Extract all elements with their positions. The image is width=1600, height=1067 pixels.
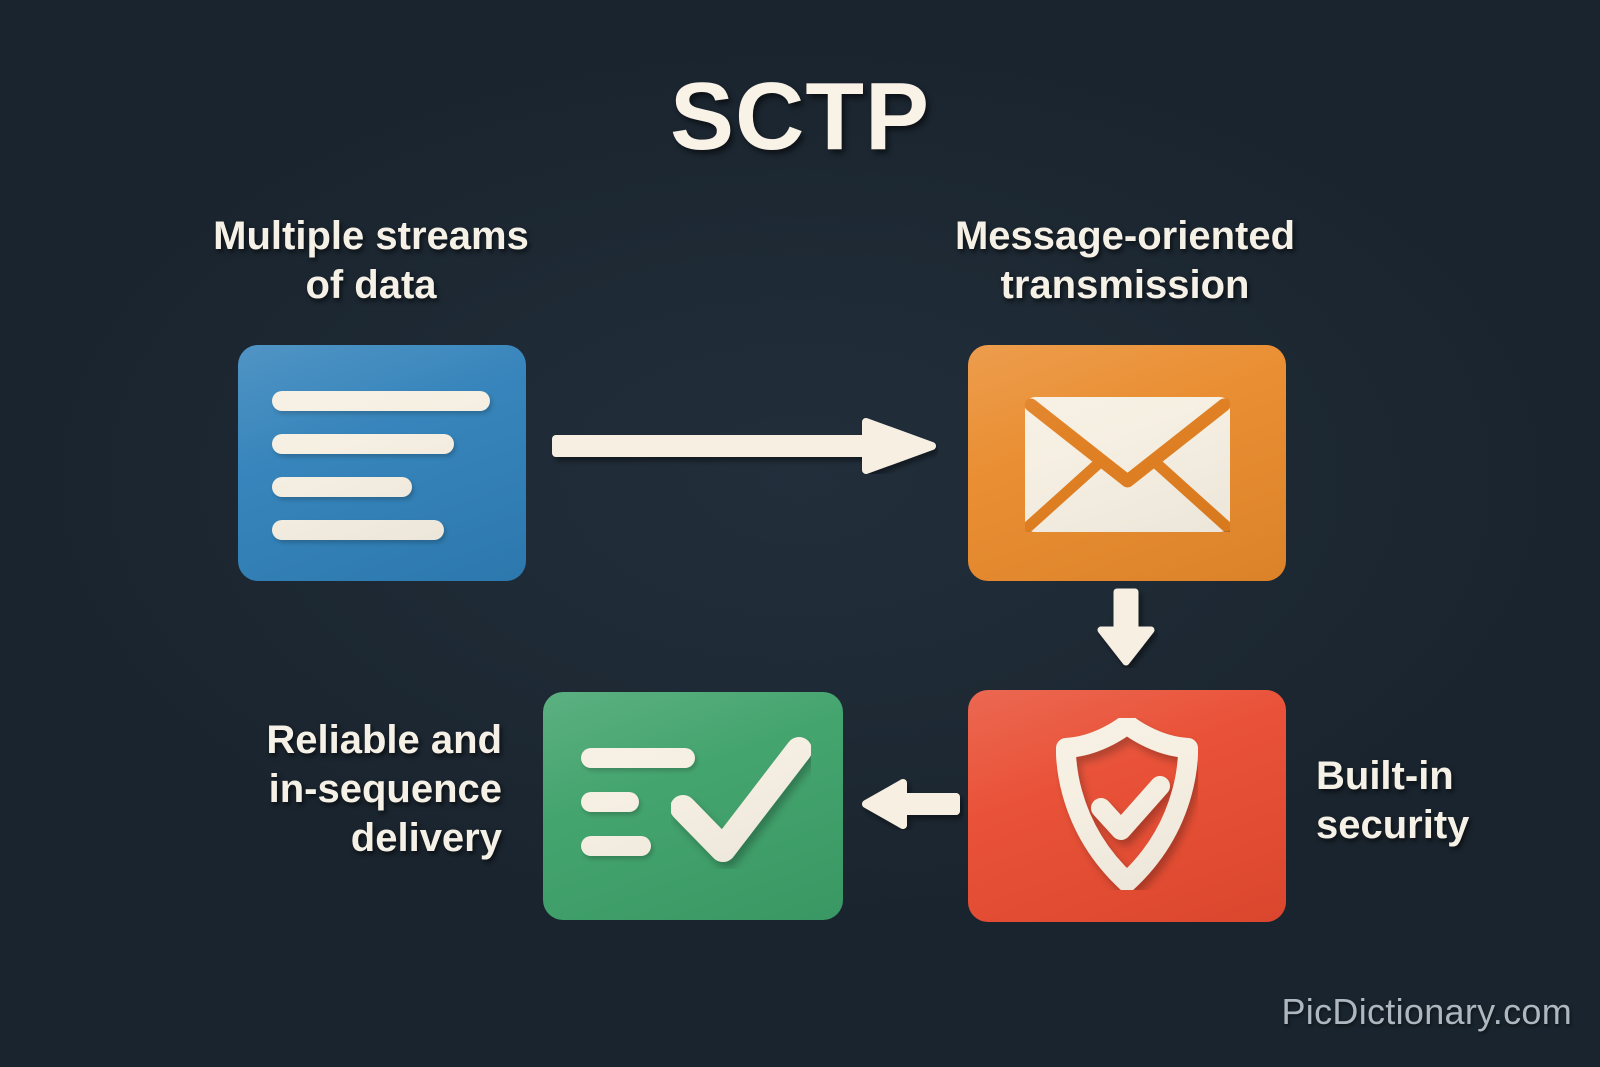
label-reliable-delivery: Reliable and in-sequence delivery: [150, 716, 502, 862]
node-multiple-streams[interactable]: [238, 345, 526, 581]
card-face: [543, 692, 843, 920]
page-title: SCTP: [0, 62, 1600, 172]
node-reliable-delivery[interactable]: [543, 692, 843, 920]
watermark: PicDictionary.com: [1282, 991, 1573, 1033]
checklist-icon-bar-2: [581, 792, 639, 812]
card-face: [238, 345, 526, 581]
document-lines-icon-bar-4: [272, 520, 444, 540]
node-message-oriented[interactable]: [968, 345, 1286, 581]
label-built-in-security: Built-in security: [1316, 752, 1566, 850]
shield-check-icon: [1056, 718, 1198, 890]
arrow-down-icon: [1094, 586, 1158, 668]
card-face: [968, 345, 1286, 581]
document-lines-icon-bar-3: [272, 477, 412, 497]
sctp-infographic: SCTP Multiple streams of data Message-or…: [0, 0, 1600, 1067]
document-lines-icon-bar-2: [272, 434, 454, 454]
arrow-left-icon: [858, 778, 964, 830]
card-face: [968, 690, 1286, 922]
card-gloss: [238, 345, 526, 581]
check-icon: [671, 734, 811, 869]
label-message-oriented: Message-oriented transmission: [920, 212, 1330, 310]
label-multiple-streams: Multiple streams of data: [176, 212, 566, 310]
checklist-icon-bar-3: [581, 836, 651, 856]
arrow-right-icon: [548, 418, 938, 474]
envelope-icon: [1025, 397, 1230, 532]
document-lines-icon-bar-1: [272, 391, 490, 411]
node-built-in-security[interactable]: [968, 690, 1286, 922]
